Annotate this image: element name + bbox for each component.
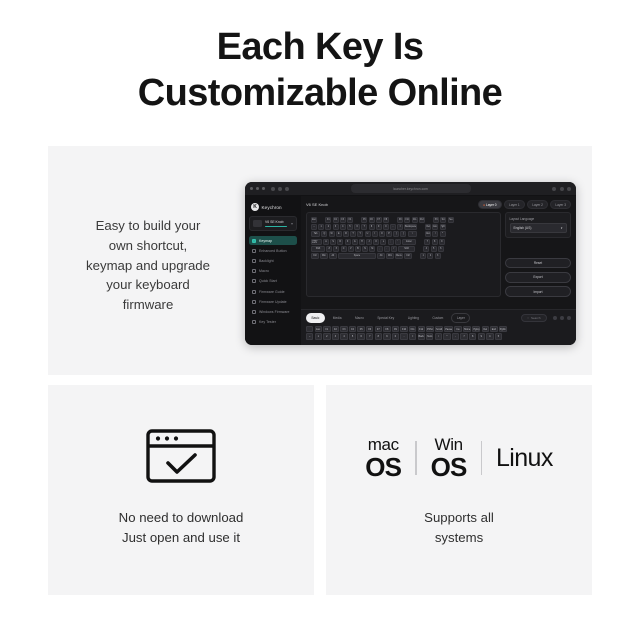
- sidebar-item-label: Firmware Update: [259, 300, 287, 304]
- key[interactable]: E: [336, 231, 342, 237]
- key[interactable]: /: [391, 246, 397, 252]
- sidebar-item-key-tester[interactable]: Key Tester: [249, 318, 297, 327]
- sidebar-item-firmware-update[interactable]: Firmware Update: [249, 297, 297, 306]
- key[interactable]: /: [432, 231, 438, 237]
- picker-key[interactable]: 4: [340, 333, 347, 339]
- export-button[interactable]: Export: [505, 272, 571, 283]
- key[interactable]: P: [386, 231, 392, 237]
- sidebar-item-windows-firmware[interactable]: Windows Firmware: [249, 307, 297, 316]
- device-info: V6 SE Knob: [265, 220, 288, 227]
- quick-start-icon: [252, 279, 256, 283]
- winos-logo: Win OS: [431, 436, 467, 480]
- key[interactable]: B: [355, 246, 361, 252]
- chevron-down-icon: ▾: [561, 226, 563, 230]
- sidebar-item-quick-start[interactable]: Quick Start: [249, 277, 297, 286]
- key[interactable]: F3: [340, 217, 346, 223]
- profile-icon[interactable]: [567, 187, 571, 191]
- picker-key[interactable]: 7: [366, 333, 373, 339]
- key-win-left[interactable]: Win: [320, 253, 328, 259]
- key[interactable]: =: [397, 224, 403, 230]
- picker-key[interactable]: F4: [349, 326, 356, 332]
- picker-key[interactable]: 7: [460, 333, 467, 339]
- key[interactable]: PgD: [440, 224, 446, 230]
- key[interactable]: S: [330, 239, 336, 245]
- key[interactable]: F12: [419, 217, 425, 223]
- maximize-icon[interactable]: [262, 187, 265, 190]
- picker-key[interactable]: F1: [323, 326, 330, 332]
- layout-language-value: English (US): [514, 226, 532, 230]
- os-logos: mac OS Win OS Linux: [326, 432, 592, 484]
- key[interactable]: K: [373, 239, 379, 245]
- right-rail: Layout Language English (US) ▾ Reset Exp…: [505, 212, 571, 297]
- key-enter[interactable]: Enter: [402, 239, 416, 245]
- key[interactable]: [: [393, 231, 399, 237]
- key[interactable]: *: [440, 231, 446, 237]
- key-shift-left[interactable]: Shift: [311, 246, 325, 252]
- import-button[interactable]: Import: [505, 286, 571, 297]
- os-divider-1: [415, 441, 416, 475]
- picker-key[interactable]: 5: [495, 333, 502, 339]
- device-name: V6 SE Knob: [265, 220, 288, 224]
- blurb-line-3: keymap and upgrade: [62, 256, 234, 276]
- key[interactable]: L: [380, 239, 386, 245]
- caption-line-1: Supports all: [326, 508, 592, 528]
- os-divider-2: [481, 441, 482, 475]
- tab-layer[interactable]: Layer: [451, 313, 470, 323]
- key[interactable]: H: [359, 239, 365, 245]
- picker-key[interactable]: -: [452, 333, 459, 339]
- key[interactable]: -: [390, 224, 396, 230]
- picker-key[interactable]: 4: [486, 333, 493, 339]
- picker-key[interactable]: PgUp: [472, 326, 480, 332]
- key[interactable]: 1: [318, 224, 324, 230]
- layer-tabs: ● Layer 0 Layer 1 Layer 2 Layer 3: [478, 200, 571, 209]
- rail-buttons: Reset Export Import: [505, 258, 571, 297]
- caption-line-2: Just open and use it: [48, 528, 314, 548]
- search-placeholder: Search: [531, 316, 541, 320]
- key-ctrl-left[interactable]: Ctrl: [311, 253, 319, 259]
- key-win-right[interactable]: Win: [386, 253, 394, 259]
- picker-key[interactable]: =: [409, 333, 416, 339]
- caption-line-2: systems: [326, 528, 592, 548]
- browser-toolbar-icons[interactable]: [552, 187, 571, 191]
- picker-key[interactable]: Pause: [444, 326, 453, 332]
- browser-titlebar: launcher.keychron.com: [245, 182, 576, 196]
- back-icon[interactable]: [271, 187, 275, 191]
- device-thumbnail-icon: [253, 220, 262, 227]
- sidebar-item-firmware-guide[interactable]: Firmware Guide: [249, 287, 297, 296]
- brand-name: Keychron: [262, 205, 282, 210]
- picker-row-1: Esc F1 F2 F3 F4 F5 F6 F7 F8 F9 F10 F11 F…: [306, 326, 571, 332]
- key-backslash[interactable]: \: [408, 231, 417, 237]
- reload-icon[interactable]: [285, 187, 289, 191]
- key[interactable]: F: [345, 239, 351, 245]
- key[interactable]: F9: [397, 217, 403, 223]
- picker-key[interactable]: F7: [375, 326, 382, 332]
- winos-logo-bottom: OS: [431, 454, 467, 480]
- layer-active-dot-icon: ●: [483, 203, 485, 207]
- sidebar-item-keymap[interactable]: Keymap: [249, 236, 297, 245]
- key-menu[interactable]: Menu: [395, 253, 403, 259]
- key[interactable]: Esc: [311, 217, 317, 223]
- feature-panel-os-support: [326, 385, 592, 595]
- key[interactable]: 0: [383, 224, 389, 230]
- picker-key[interactable]: 9: [478, 333, 485, 339]
- key[interactable]: W: [329, 231, 335, 237]
- key-spacer: [413, 253, 419, 259]
- layout-language-label: Layout Language: [510, 217, 567, 221]
- key[interactable]: 9: [439, 239, 445, 245]
- sidebar-item-label: Macro: [259, 269, 269, 273]
- key[interactable]: Del: [425, 224, 431, 230]
- linux-logo: Linux: [496, 444, 553, 473]
- key[interactable]: 9: [376, 224, 382, 230]
- launcher-sidebar: K Keychron V6 SE Knob ▾ Keymap: [245, 196, 301, 345]
- layout-language-box: Layout Language English (US) ▾: [505, 212, 571, 238]
- launcher-body: K Keychron V6 SE Knob ▾ Keymap: [245, 196, 576, 345]
- key[interactable]: 2: [325, 224, 331, 230]
- blurb-line-4: your keyboard: [62, 275, 234, 295]
- key-capslock[interactable]: Caps Lock: [311, 239, 322, 245]
- key[interactable]: F10: [404, 217, 410, 223]
- keyboard-title: V6 SE Knob: [306, 202, 328, 207]
- window-traffic-lights[interactable]: [250, 187, 265, 190]
- key[interactable]: G: [352, 239, 358, 245]
- no-download-caption: No need to download Just open and use it: [48, 508, 314, 549]
- key-spacer: [318, 217, 324, 223]
- key[interactable]: J: [366, 239, 372, 245]
- blurb-line-5: firmware: [62, 295, 234, 315]
- macro-icon: [252, 269, 256, 273]
- layer-tab-3[interactable]: Layer 3: [550, 200, 571, 209]
- keychron-logo-icon: K: [251, 203, 259, 211]
- key[interactable]: 1: [420, 253, 426, 259]
- device-selector[interactable]: V6 SE Knob ▾: [249, 216, 297, 231]
- key[interactable]: F7: [376, 217, 382, 223]
- tab-basic[interactable]: Basic: [306, 313, 325, 323]
- tabs-icon[interactable]: [560, 187, 564, 191]
- key[interactable]: Pau: [448, 217, 454, 223]
- macos-logo: mac OS: [365, 436, 401, 480]
- sidebar-item-backlight[interactable]: Backlight: [249, 256, 297, 265]
- layer-tab-0[interactable]: ● Layer 0: [478, 200, 501, 209]
- key[interactable]: 2: [427, 253, 433, 259]
- key[interactable]: I: [372, 231, 378, 237]
- picker-key[interactable]: F12: [418, 326, 425, 332]
- key[interactable]: Z: [326, 246, 332, 252]
- layer-tab-2[interactable]: Layer 2: [527, 200, 548, 209]
- picker-key[interactable]: 8: [375, 333, 382, 339]
- key[interactable]: ;: [388, 239, 394, 245]
- key[interactable]: .: [384, 246, 390, 252]
- sidebar-item-label: Windows Firmware: [259, 310, 290, 314]
- key[interactable]: X: [333, 246, 339, 252]
- key[interactable]: O: [379, 231, 385, 237]
- winos-logo-top: Win: [435, 436, 463, 453]
- caption-line-1: No need to download: [48, 508, 314, 528]
- key[interactable]: F4: [347, 217, 353, 223]
- key[interactable]: R: [343, 231, 349, 237]
- zoom-icon[interactable]: [567, 316, 571, 320]
- picker-key[interactable]: Scroll: [435, 326, 443, 332]
- key-backspace[interactable]: Backspace: [404, 224, 416, 230]
- keyboard-row: Shift Z X C V B N M , . / Shift: [311, 246, 496, 252]
- key[interactable]: V: [348, 246, 354, 252]
- device-status-bar: [265, 226, 287, 228]
- key[interactable]: 4: [423, 246, 429, 252]
- tab-lighting[interactable]: Lighting: [402, 313, 424, 323]
- picker-key[interactable]: /: [435, 333, 442, 339]
- os-support-caption: Supports all systems: [326, 508, 592, 549]
- key[interactable]: End: [432, 224, 438, 230]
- key[interactable]: 6: [354, 224, 360, 230]
- key[interactable]: A: [323, 239, 329, 245]
- key[interactable]: F6: [369, 217, 375, 223]
- picker-key[interactable]: End: [490, 326, 497, 332]
- picker-key[interactable]: 6: [357, 333, 364, 339]
- picker-key[interactable]: *: [443, 333, 450, 339]
- key[interactable]: ,: [377, 246, 383, 252]
- key[interactable]: 8: [369, 224, 375, 230]
- picker-key[interactable]: 9: [383, 333, 390, 339]
- forward-icon[interactable]: [278, 187, 282, 191]
- picker-key[interactable]: 3: [332, 333, 339, 339]
- feature-panel-no-download: [48, 385, 314, 595]
- reset-button[interactable]: Reset: [505, 258, 571, 269]
- update-icon: [252, 300, 256, 304]
- sidebar-item-label: Quick Start: [259, 279, 277, 283]
- sidebar-nav: Keymap Enhanced Button Backlight Macro: [249, 236, 297, 327]
- launcher-main: V6 SE Knob ● Layer 0 Layer 1 Layer 2 Lay…: [301, 196, 576, 345]
- picker-key[interactable]: F10: [400, 326, 407, 332]
- configurator-blurb: Easy to build your own shortcut, keymap …: [62, 216, 234, 315]
- sidebar-item-enhanced-button[interactable]: Enhanced Button: [249, 246, 297, 255]
- browser-check-icon: [145, 428, 217, 484]
- sidebar-item-label: Firmware Guide: [259, 290, 285, 294]
- layer-tab-label: Layer 0: [486, 203, 497, 207]
- blurb-line-2: own shortcut,: [62, 236, 234, 256]
- sidebar-item-macro[interactable]: Macro: [249, 267, 297, 276]
- sidebar-item-label: Key Tester: [259, 320, 276, 324]
- key[interactable]: Q: [321, 231, 327, 237]
- picker-row-2: ~ 1 2 3 4 5 6 7 8 9 0 - = Back N: [306, 333, 571, 339]
- blurb-line-1: Easy to build your: [62, 216, 234, 236]
- key[interactable]: 3: [333, 224, 339, 230]
- key[interactable]: F5: [361, 217, 367, 223]
- tab-macro[interactable]: Macro: [349, 313, 369, 323]
- keyboard-layout[interactable]: Esc F1 F2 F3 F4 F5 F6 F7 F8 F: [306, 212, 501, 297]
- picker-key[interactable]: 1: [315, 333, 322, 339]
- macos-logo-top: mac: [368, 436, 399, 453]
- sidebar-item-label: Keymap: [259, 239, 272, 243]
- picker-key[interactable]: -: [400, 333, 407, 339]
- layer-tab-1[interactable]: Layer 1: [504, 200, 525, 209]
- key[interactable]: 7: [361, 224, 367, 230]
- picker-key[interactable]: Del: [482, 326, 489, 332]
- macos-logo-bottom: OS: [365, 454, 401, 480]
- backlight-icon: [252, 259, 256, 263]
- guide-icon: [252, 290, 256, 294]
- sidebar-item-label: Backlight: [259, 259, 274, 263]
- close-icon[interactable]: [250, 187, 253, 190]
- keyboard-row: Tab Q W E R T Y U I O P [ ]: [311, 231, 496, 237]
- picker-key[interactable]: Ins: [454, 326, 461, 332]
- key[interactable]: 6: [438, 246, 444, 252]
- keyboard-row: Caps Lock A S D F G H J K L ; ': [311, 239, 496, 245]
- key-spacer: [354, 217, 360, 223]
- key[interactable]: F1: [325, 217, 331, 223]
- search-icon: ○: [527, 316, 529, 320]
- key-alt-left[interactable]: Alt: [329, 253, 337, 259]
- tab-media[interactable]: Media: [327, 313, 347, 323]
- picker-toolbar-icons[interactable]: [553, 316, 571, 320]
- key[interactable]: 8: [432, 239, 438, 245]
- key-tab[interactable]: Tab: [311, 231, 320, 237]
- picker-key[interactable]: 8: [469, 333, 476, 339]
- key-shift-right[interactable]: Shift: [398, 246, 415, 252]
- picker-key[interactable]: F6: [366, 326, 373, 332]
- keyboard-row: ~ 1 2 3 4 5 6 7 8 9 0 - =: [311, 224, 496, 230]
- picker-key[interactable]: PgDn: [499, 326, 507, 332]
- picker-key[interactable]: F9: [392, 326, 399, 332]
- key[interactable]: N: [362, 246, 368, 252]
- key[interactable]: ]: [400, 231, 406, 237]
- minus-icon[interactable]: [560, 316, 564, 320]
- key-tester-icon: [252, 320, 256, 324]
- key[interactable]: 5: [431, 246, 437, 252]
- key-spacer: [390, 217, 396, 223]
- key[interactable]: F2: [333, 217, 339, 223]
- key[interactable]: 5: [347, 224, 353, 230]
- key-alt-right[interactable]: Alt: [377, 253, 385, 259]
- key-spacer: [426, 217, 432, 223]
- picker-key[interactable]: Home: [463, 326, 471, 332]
- key-space[interactable]: Space: [338, 253, 376, 259]
- key[interactable]: T: [350, 231, 356, 237]
- key-spacer: [417, 239, 423, 245]
- key-spacer: [418, 224, 424, 230]
- main-header: V6 SE Knob ● Layer 0 Layer 1 Layer 2 Lay…: [306, 200, 571, 209]
- picker-key[interactable]: 2: [323, 333, 330, 339]
- key[interactable]: F8: [383, 217, 389, 223]
- page-title-line-2: Customizable Online: [0, 70, 640, 116]
- keyboard-row: Ctrl Win Alt Space Alt Win Menu Ctrl 1 2…: [311, 253, 496, 259]
- key[interactable]: Prt: [433, 217, 439, 223]
- key-spacer: [416, 246, 422, 252]
- minimize-icon[interactable]: [256, 187, 259, 190]
- key[interactable]: 4: [340, 224, 346, 230]
- picker-key[interactable]: F8: [383, 326, 390, 332]
- key[interactable]: ~: [311, 224, 317, 230]
- chevron-down-icon[interactable]: ▾: [291, 221, 293, 226]
- picker-key[interactable]: [306, 326, 313, 332]
- url-bar[interactable]: launcher.keychron.com: [351, 184, 471, 193]
- layout-language-select[interactable]: English (US) ▾: [510, 223, 567, 233]
- key[interactable]: Y: [357, 231, 363, 237]
- browser-nav-buttons[interactable]: [271, 187, 289, 191]
- picker-key[interactable]: 5: [349, 333, 356, 339]
- launcher-app-window: launcher.keychron.com K Keychron V6 SE K…: [245, 182, 576, 345]
- tab-special-key[interactable]: Special Key: [372, 313, 400, 323]
- picker-key[interactable]: Num: [426, 333, 433, 339]
- key[interactable]: ': [395, 239, 401, 245]
- picker-key[interactable]: ~: [306, 333, 313, 339]
- sidebar-item-label: Enhanced Button: [259, 249, 287, 253]
- key[interactable]: C: [341, 246, 347, 252]
- promo-page: Each Key Is Customizable Online Easy to …: [0, 0, 640, 640]
- keyboard-row: Esc F1 F2 F3 F4 F5 F6 F7 F8 F: [311, 217, 496, 223]
- picker-key[interactable]: PrtSc: [426, 326, 434, 332]
- share-icon[interactable]: [552, 187, 556, 191]
- picker-key[interactable]: F3: [340, 326, 347, 332]
- settings-icon[interactable]: [553, 316, 557, 320]
- key[interactable]: D: [337, 239, 343, 245]
- key-picker: Basic Media Macro Special Key Lighting C…: [301, 309, 576, 345]
- picker-key[interactable]: F11: [409, 326, 416, 332]
- key[interactable]: U: [365, 231, 371, 237]
- key-picker-tabs: Basic Media Macro Special Key Lighting C…: [306, 313, 571, 323]
- key[interactable]: F11: [412, 217, 418, 223]
- picker-key[interactable]: 0: [392, 333, 399, 339]
- key[interactable]: M: [369, 246, 375, 252]
- page-title-line-1: Each Key Is: [0, 24, 640, 70]
- key[interactable]: 3: [435, 253, 441, 259]
- picker-key[interactable]: F2: [332, 326, 339, 332]
- keyboard-and-rail: Esc F1 F2 F3 F4 F5 F6 F7 F8 F: [306, 212, 571, 297]
- brand: K Keychron: [251, 203, 297, 211]
- key[interactable]: Scr: [440, 217, 446, 223]
- search-box[interactable]: ○ Search: [521, 314, 546, 323]
- key-ctrl-right[interactable]: Ctrl: [404, 253, 412, 259]
- picker-key[interactable]: Esc: [315, 326, 322, 332]
- tab-custom[interactable]: Custom: [427, 313, 449, 323]
- key[interactable]: 7: [424, 239, 430, 245]
- picker-key[interactable]: Back: [418, 333, 425, 339]
- windows-icon: [252, 310, 256, 314]
- key[interactable]: Num: [425, 231, 431, 237]
- keymap-icon: [252, 239, 256, 243]
- page-title: Each Key Is Customizable Online: [0, 24, 640, 117]
- button-icon: [252, 249, 256, 253]
- key-spacer: [418, 231, 424, 237]
- picker-key[interactable]: F5: [357, 326, 364, 332]
